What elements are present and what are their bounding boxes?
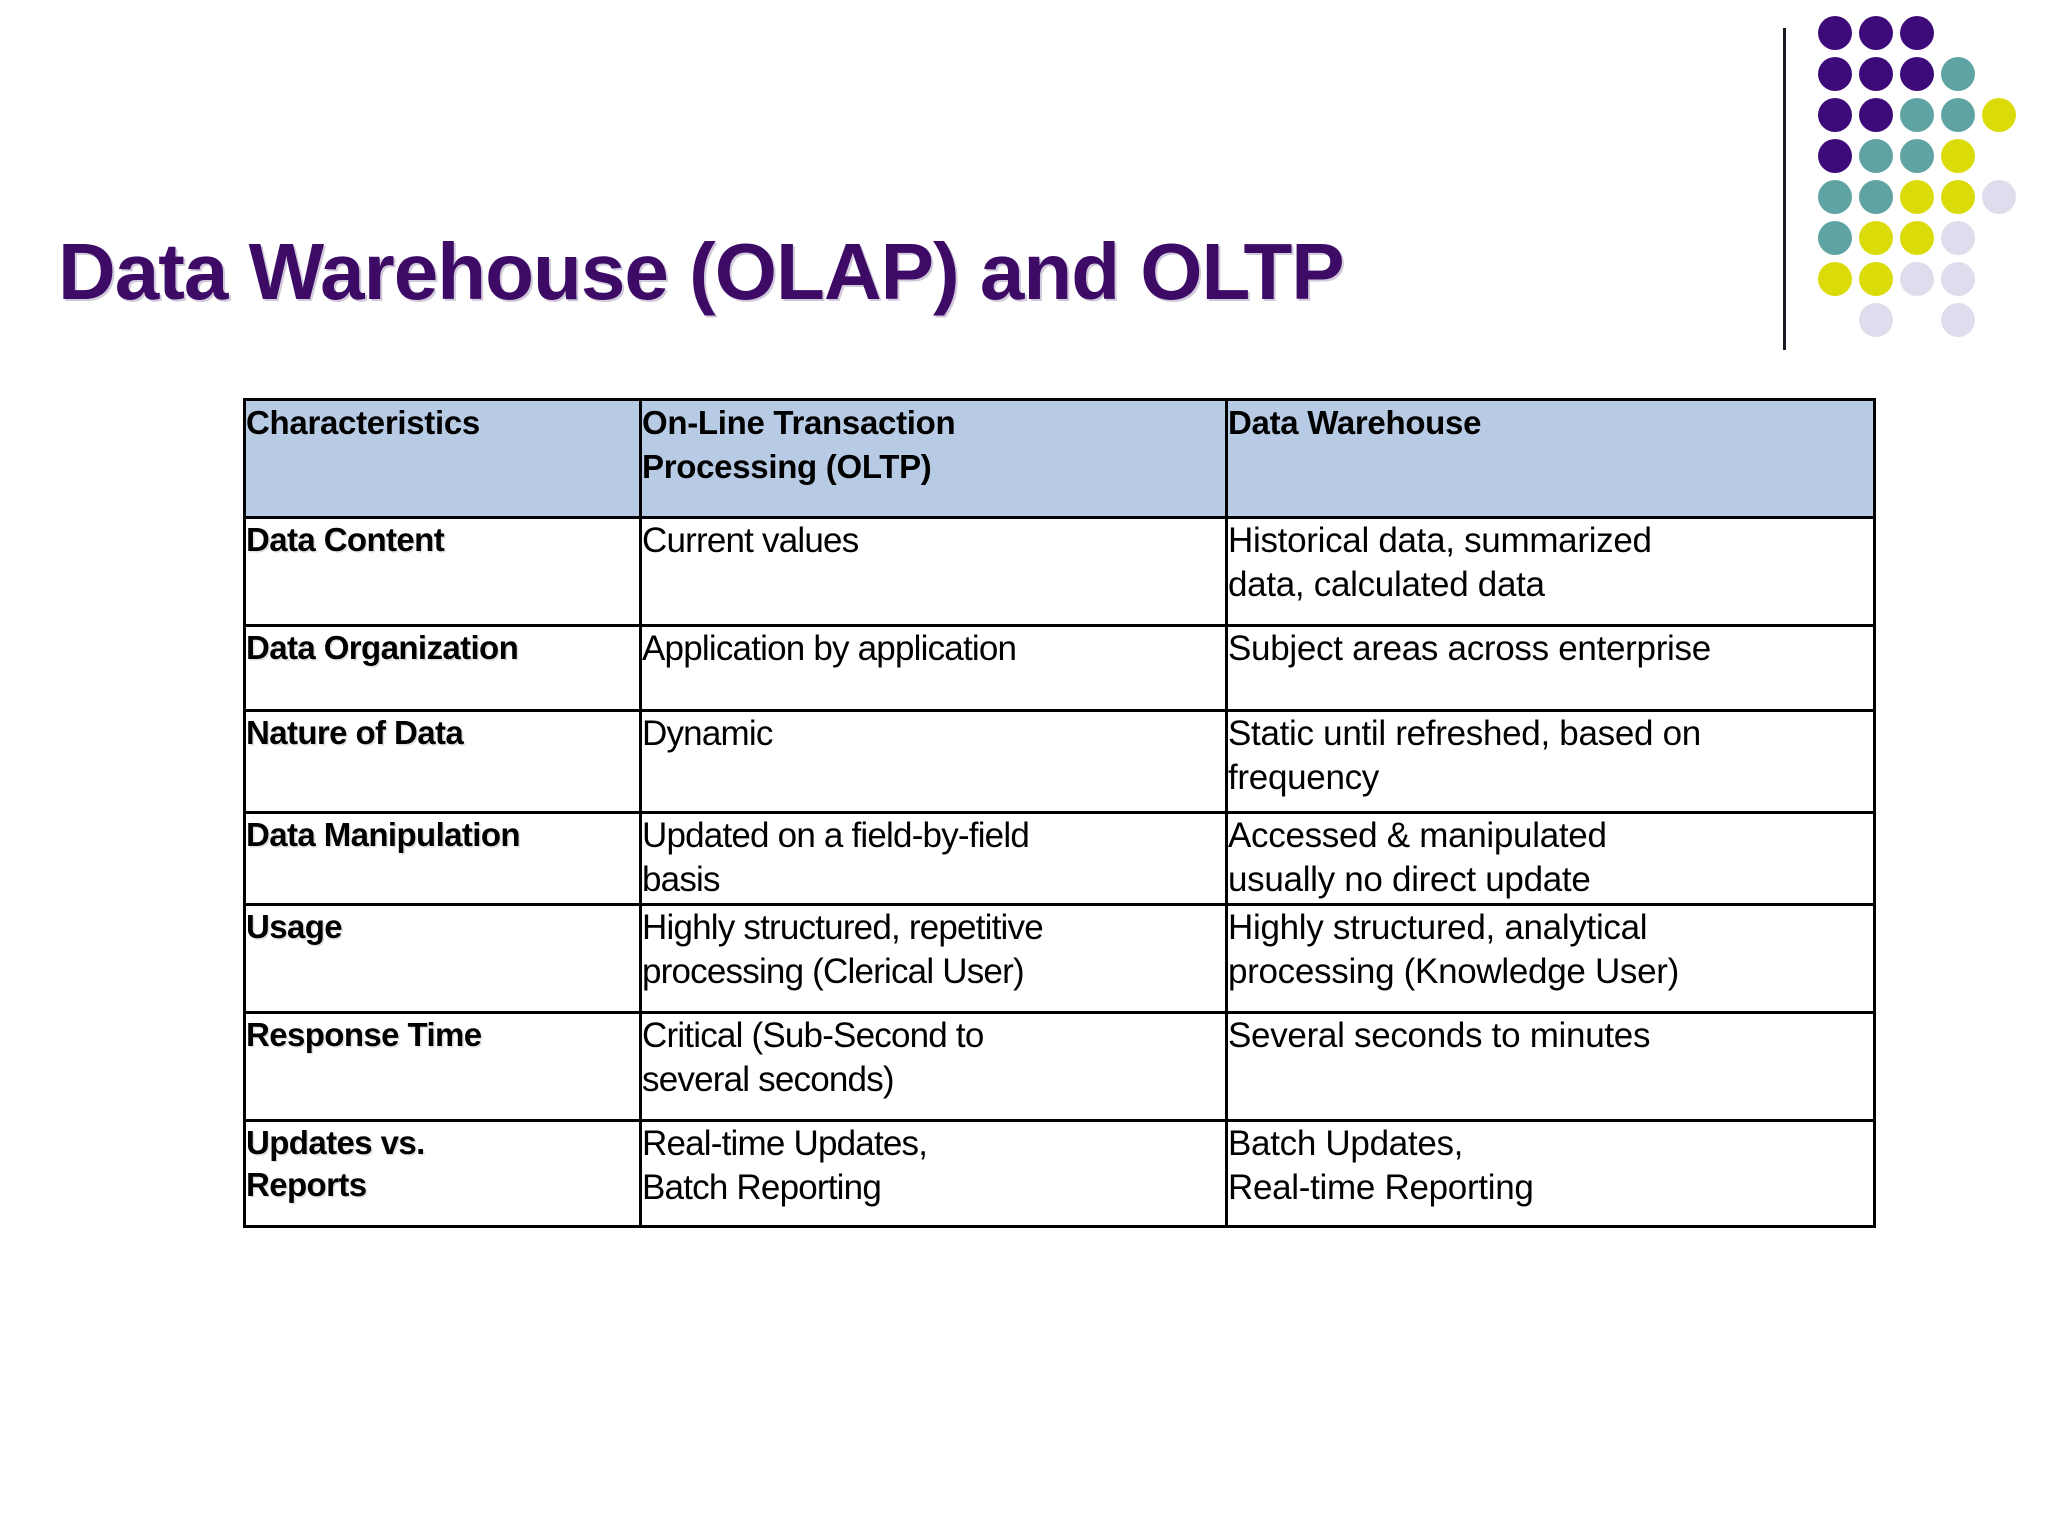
column-header-characteristics: Characteristics <box>245 400 641 518</box>
cell-data-warehouse: Subject areas across enterprise <box>1227 626 1875 711</box>
cell-line: Several seconds to minutes <box>1228 1014 1873 1058</box>
cell-line: usually no direct update <box>1228 858 1873 902</box>
cell-characteristic: Data Manipulation <box>245 813 641 905</box>
cell-data-warehouse: Historical data, summarizeddata, calcula… <box>1227 518 1875 626</box>
logo-dot-purple <box>1818 139 1852 173</box>
logo-area <box>1770 0 2048 360</box>
cell-line: Subject areas across enterprise <box>1228 627 1873 671</box>
logo-dot-lavender <box>1900 262 1934 296</box>
logo-dot-lavender <box>1941 303 1975 337</box>
cell-line: Updates vs. <box>246 1122 639 1164</box>
logo-dot-teal <box>1941 98 1975 132</box>
cell-oltp: Updated on a field-by-fieldbasis <box>641 813 1227 905</box>
cell-data-warehouse: Static until refreshed, based onfrequenc… <box>1227 711 1875 813</box>
cell-line: frequency <box>1228 756 1873 800</box>
logo-dot-purple <box>1818 57 1852 91</box>
logo-dot-teal <box>1900 139 1934 173</box>
cell-data-warehouse: Batch Updates,Real-time Reporting <box>1227 1121 1875 1227</box>
logo-dot-lavender <box>1859 303 1893 337</box>
table-header-row: Characteristics On-Line TransactionProce… <box>245 400 1875 518</box>
cell-characteristic: Data Organization <box>245 626 641 711</box>
logo-dot-teal <box>1941 57 1975 91</box>
table-row: Updates vs.ReportsReal-time Updates,Batc… <box>245 1121 1875 1227</box>
cell-oltp: Dynamic <box>641 711 1227 813</box>
dot-matrix-logo-icon <box>1818 16 2048 346</box>
header-line: Data Warehouse <box>1228 401 1873 445</box>
logo-dot-purple <box>1900 57 1934 91</box>
cell-oltp: Highly structured, repetitiveprocessing … <box>641 905 1227 1013</box>
logo-dot-purple <box>1859 16 1893 50</box>
cell-line: processing (Clerical User) <box>642 950 1225 994</box>
cell-oltp: Critical (Sub-Second toseveral seconds) <box>641 1013 1227 1121</box>
logo-dot-purple <box>1859 98 1893 132</box>
cell-line: Reports <box>246 1164 639 1206</box>
logo-dot-yellow <box>1818 262 1852 296</box>
logo-dot-purple <box>1900 16 1934 50</box>
cell-line: Accessed & manipulated <box>1228 814 1873 858</box>
cell-line: basis <box>642 858 1225 902</box>
cell-line: Data Manipulation <box>246 814 639 856</box>
cell-characteristic: Nature of Data <box>245 711 641 813</box>
cell-line: Application by application <box>642 627 1225 671</box>
logo-dot-yellow <box>1900 180 1934 214</box>
cell-data-warehouse: Several seconds to minutes <box>1227 1013 1875 1121</box>
cell-line: Real-time Updates, <box>642 1122 1225 1166</box>
cell-line: Highly structured, analytical <box>1228 906 1873 950</box>
table-row: Data ManipulationUpdated on a field-by-f… <box>245 813 1875 905</box>
cell-line: data, calculated data <box>1228 563 1873 607</box>
cell-line: processing (Knowledge User) <box>1228 950 1873 994</box>
cell-line: Static until refreshed, based on <box>1228 712 1873 756</box>
cell-line: Current values <box>642 519 1225 563</box>
cell-line: Data Organization <box>246 627 639 669</box>
cell-line: Batch Reporting <box>642 1166 1225 1210</box>
cell-characteristic: Updates vs.Reports <box>245 1121 641 1227</box>
page-title: Data Warehouse (OLAP) and OLTP <box>58 232 1458 312</box>
logo-dot-purple <box>1818 98 1852 132</box>
logo-dot-purple <box>1859 57 1893 91</box>
logo-dot-purple <box>1818 16 1852 50</box>
logo-dot-lavender <box>1941 262 1975 296</box>
cell-line: Nature of Data <box>246 712 639 754</box>
header-line: On-Line Transaction <box>642 401 1225 445</box>
column-header-data-warehouse: Data Warehouse <box>1227 400 1875 518</box>
table-row: UsageHighly structured, repetitiveproces… <box>245 905 1875 1013</box>
cell-line: Highly structured, repetitive <box>642 906 1225 950</box>
logo-dot-teal <box>1859 180 1893 214</box>
header-line: Characteristics <box>246 401 639 445</box>
logo-dot-yellow <box>1982 98 2016 132</box>
logo-dot-teal <box>1859 139 1893 173</box>
cell-line: Updated on a field-by-field <box>642 814 1225 858</box>
slide-canvas: Data Warehouse (OLAP) and OLTP Character… <box>0 0 2048 1536</box>
cell-line: Response Time <box>246 1014 639 1056</box>
cell-data-warehouse: Highly structured, analyticalprocessing … <box>1227 905 1875 1013</box>
logo-dot-yellow <box>1941 139 1975 173</box>
cell-oltp: Real-time Updates,Batch Reporting <box>641 1121 1227 1227</box>
cell-characteristic: Usage <box>245 905 641 1013</box>
cell-line: Usage <box>246 906 639 948</box>
cell-line: several seconds) <box>642 1058 1225 1102</box>
logo-dot-lavender <box>1941 221 1975 255</box>
table-row: Data ContentCurrent valuesHistorical dat… <box>245 518 1875 626</box>
table-row: Data OrganizationApplication by applicat… <box>245 626 1875 711</box>
cell-line: Dynamic <box>642 712 1225 756</box>
cell-line: Batch Updates, <box>1228 1122 1873 1166</box>
logo-dot-yellow <box>1859 262 1893 296</box>
logo-dot-teal <box>1818 180 1852 214</box>
logo-dot-teal <box>1900 98 1934 132</box>
cell-line: Historical data, summarized <box>1228 519 1873 563</box>
cell-line: Data Content <box>246 519 639 561</box>
cell-line: Real-time Reporting <box>1228 1166 1873 1210</box>
olap-oltp-comparison-table: Characteristics On-Line TransactionProce… <box>243 398 1876 1228</box>
header-line: Processing (OLTP) <box>642 445 1225 489</box>
table-row: Nature of DataDynamicStatic until refres… <box>245 711 1875 813</box>
column-header-oltp: On-Line TransactionProcessing (OLTP) <box>641 400 1227 518</box>
table-row: Response TimeCritical (Sub-Second toseve… <box>245 1013 1875 1121</box>
cell-characteristic: Response Time <box>245 1013 641 1121</box>
logo-dot-yellow <box>1941 180 1975 214</box>
logo-dot-yellow <box>1900 221 1934 255</box>
table-header: Characteristics On-Line TransactionProce… <box>245 400 1875 518</box>
cell-data-warehouse: Accessed & manipulatedusually no direct … <box>1227 813 1875 905</box>
cell-oltp: Application by application <box>641 626 1227 711</box>
cell-line: Critical (Sub-Second to <box>642 1014 1225 1058</box>
logo-dot-yellow <box>1859 221 1893 255</box>
logo-dot-teal <box>1818 221 1852 255</box>
cell-oltp: Current values <box>641 518 1227 626</box>
logo-divider-line <box>1783 28 1786 350</box>
cell-characteristic: Data Content <box>245 518 641 626</box>
logo-dot-lavender <box>1982 180 2016 214</box>
table-body: Data ContentCurrent valuesHistorical dat… <box>245 518 1875 1227</box>
